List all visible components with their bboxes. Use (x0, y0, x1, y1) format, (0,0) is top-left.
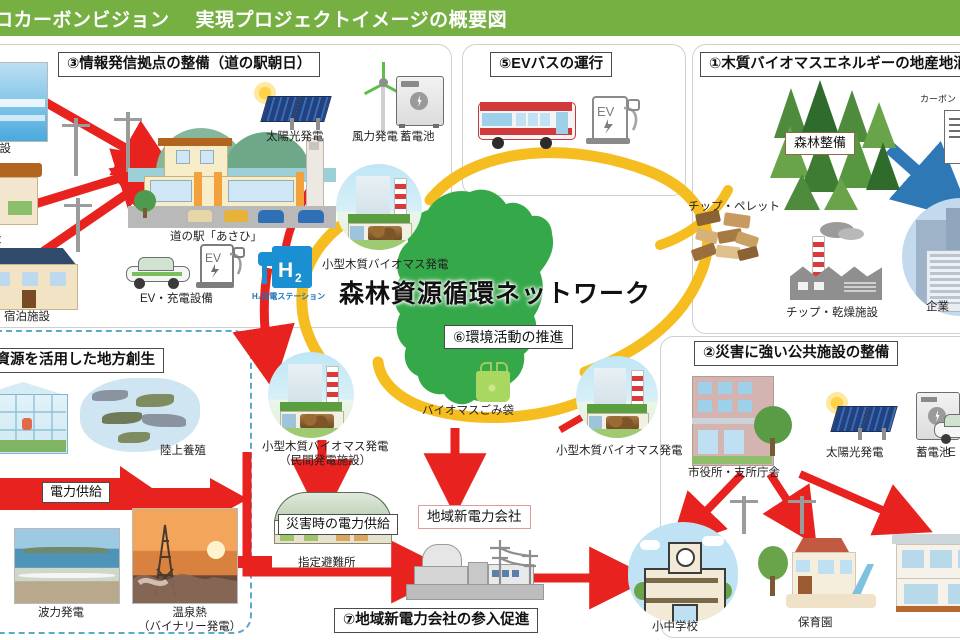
utility-pole-crossarm-1 (62, 124, 90, 127)
hotspring-heat-label: 温泉熱 （バイナリー発電） (138, 606, 241, 635)
nursery-label: 保育園 (798, 616, 833, 630)
utility-pole-right-crossarm-1 (730, 500, 758, 503)
city-hall-illustration (692, 376, 792, 464)
wave-power-label: 波力発電 (38, 606, 84, 620)
small-biomass-label-left: 小型木質バイオマス発電 (322, 258, 449, 272)
battery-illustration-top (396, 76, 442, 128)
land-aquaculture-label: 陸上養殖 (160, 444, 206, 458)
network-title: 森林資源循環ネットワーク (330, 274, 660, 310)
pool-facility-label: 施設 (0, 142, 11, 156)
svg-text:EV: EV (205, 251, 221, 265)
aquaculture-illustration (80, 378, 200, 452)
utility-pole-crossarm-3 (64, 204, 92, 207)
greenhouse-illustration (0, 382, 68, 454)
chip-pellet-label: チップ・ペレット (688, 200, 780, 214)
local-power-company-label: 地域新電力会社 (418, 505, 531, 529)
section4-caption: ネ資源を活用した地方創生 (0, 348, 164, 373)
school-illustration (628, 522, 738, 622)
section3-caption: ③情報発信拠点の整備（道の駅朝日） (58, 52, 320, 77)
infographic-canvas: ロカーボンビジョン実現プロジェクトイメージの概要図 (0, 0, 960, 640)
roadside-station-label: 道の駅「あさひ」 (170, 230, 262, 244)
lodging-facility-label: 宿泊施設 (4, 310, 50, 324)
disaster-power-supply-label: 災害時の電力供給 (278, 514, 398, 535)
wave-power-photo (14, 528, 120, 604)
pool-facility-photo (0, 62, 48, 142)
carbon-document-icon (944, 110, 960, 162)
hotspring-heat-line2: （バイナリー発電） (138, 620, 241, 634)
solar-panel-illustration-s2 (824, 392, 896, 442)
section5-caption: ⑤EVバスの運行 (490, 52, 612, 77)
chip-drying-facility-label: チップ・乾燥施設 (786, 306, 878, 320)
h2-station-illustration: H 2 (258, 246, 316, 290)
solar-power-label-top: 太陽光発電 (266, 130, 324, 144)
bath-facility-illustration (0, 155, 42, 227)
small-biomass-label-right: 小型木質バイオマス発電 (556, 444, 683, 458)
enterprise-label: 企業 (926, 300, 949, 314)
svg-text:EV: EV (597, 104, 615, 119)
small-biomass-private-line2: （民間発電施設） (262, 454, 389, 468)
lodging-facility-illustration (0, 248, 84, 308)
small-biomass-private-label: 小型木質バイオマス発電 （民間発電施設） (262, 440, 389, 469)
svg-text:2: 2 (295, 271, 302, 285)
carbon-credit-label: カーボン (920, 94, 956, 105)
h2-station-label: H₂充電ステーション (252, 292, 325, 302)
ev-charger-illustration: EV (196, 244, 250, 290)
city-hall-label: 市役所・支所庁舎 (688, 466, 780, 480)
designated-shelter-label: 指定避難所 (298, 556, 356, 570)
svg-text:H: H (278, 259, 293, 282)
chip-pellet-illustration (690, 212, 764, 264)
section2-caption: ②災害に強い公共施設の整備 (694, 341, 898, 366)
small-biomass-plant-private (268, 352, 354, 438)
wind-power-label: 風力発電 (352, 130, 398, 144)
public-facility-illustration (892, 528, 960, 614)
power-supply-label: 電力供給 (42, 482, 110, 503)
solar-power-label-s2: 太陽光発電 (826, 446, 884, 460)
bath-facility-label: 設 (0, 232, 2, 246)
small-biomass-private-line1: 小型木質バイオマス発電 (262, 440, 389, 454)
battery-label-s2: 蓄電池 (916, 446, 951, 460)
section7-caption: ⑦地域新電力会社の参入促進 (334, 608, 538, 633)
forest-maintenance-label: 森林整備 (785, 132, 855, 155)
power-plant-illustration (406, 540, 542, 606)
ev-bus-charger-illustration: EV (586, 96, 644, 150)
small-biomass-plant-left (336, 164, 422, 250)
small-biomass-plant-right (576, 356, 658, 438)
ev-car-illustration-s2 (934, 412, 960, 444)
battery-label-top: 蓄電池 (400, 130, 435, 144)
school-label: 小中学校 (652, 620, 698, 634)
utility-pole-right-crossarm-2 (788, 500, 816, 503)
solar-panel-illustration (252, 82, 328, 132)
ev-charging-label: EV・充電設備 (140, 292, 213, 306)
biomass-bag-icon (476, 362, 510, 402)
section6-caption: ⑥環境活動の推進 (444, 325, 573, 349)
nursery-illustration (756, 530, 876, 616)
hotspring-heat-photo (132, 508, 238, 604)
biomass-bag-label: バイオマスごみ袋 (422, 404, 514, 418)
ev-bus-illustration (478, 98, 574, 148)
chip-drying-facility-illustration (790, 222, 882, 300)
hotspring-heat-line1: 温泉熱 (138, 606, 241, 620)
section1-caption: ①木質バイオマスエネルギーの地産地消 (700, 52, 960, 77)
utility-pole-crossarm-2 (114, 118, 142, 121)
ev-label-s2: E (948, 446, 956, 460)
ev-car-illustration (126, 254, 188, 286)
